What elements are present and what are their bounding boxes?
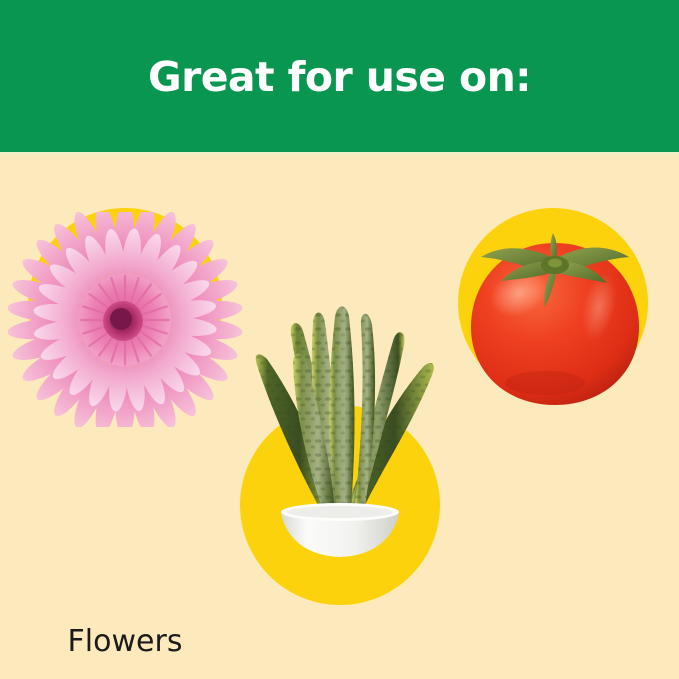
tile-label-flowers: Flowers: [0, 627, 250, 657]
header-banner: Great for use on:: [0, 0, 679, 152]
promo-panel: Great for use on:: [0, 0, 679, 679]
banner-bottom-edge: [0, 152, 679, 155]
page-title: Great for use on:: [148, 57, 531, 98]
red-tomato-icon: [457, 215, 653, 415]
pink-gerbera-daisy-icon: [6, 212, 244, 427]
tile-vegetables: Vegetables: [429, 190, 679, 490]
snake-plant-icon: [215, 255, 465, 565]
tile-houseplants: Houseplants: [215, 255, 465, 575]
tile-flowers: Flowers: [0, 190, 250, 490]
